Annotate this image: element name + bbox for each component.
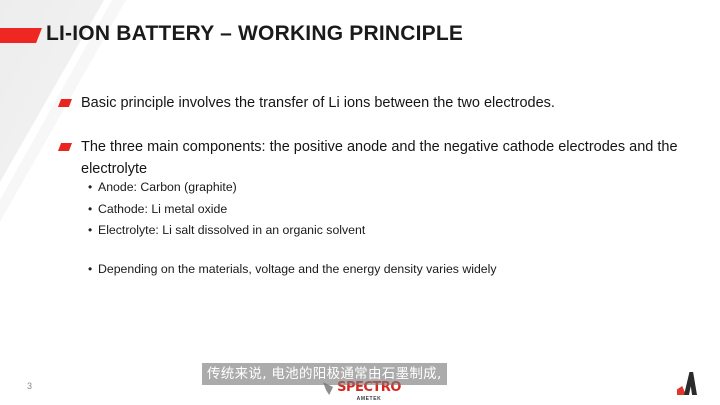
subtitle-caption: 传统来说, 电池的阳极通常由石墨制成, [202, 363, 447, 385]
page-number: 3 [27, 381, 32, 391]
bullet-text: The three main components: the positive … [81, 136, 678, 181]
list-item: • Anode: Carbon (graphite) [88, 178, 497, 197]
title-accent-marker-icon [0, 28, 42, 43]
list-item-label: Depending on the materials, voltage and … [98, 260, 497, 279]
list-item: • Depending on the materials, voltage an… [88, 260, 497, 279]
red-parallelogram-bullet-icon [58, 143, 72, 151]
dot-bullet-icon: • [88, 181, 98, 193]
page-title: LI-ION BATTERY – WORKING PRINCIPLE [46, 22, 463, 46]
bullet-item: Basic principle involves the transfer of… [58, 92, 555, 114]
list-item: • Cathode: Li metal oxide [88, 200, 497, 219]
red-parallelogram-bullet-icon [58, 99, 72, 107]
spectro-sub-wordmark: AMETEK [337, 397, 401, 402]
dot-bullet-icon: • [88, 224, 98, 236]
list-spacer [88, 243, 497, 260]
slide-canvas: LI-ION BATTERY – WORKING PRINCIPLE Basic… [0, 0, 720, 405]
sub-bullet-list: • Anode: Carbon (graphite) • Cathode: Li… [88, 178, 497, 282]
dot-bullet-icon: • [88, 203, 98, 215]
list-item: • Electrolyte: Li salt dissolved in an o… [88, 221, 497, 240]
list-item-label: Electrolyte: Li salt dissolved in an org… [98, 221, 365, 240]
bullet-text: Basic principle involves the transfer of… [81, 92, 555, 114]
list-item-label: Anode: Carbon (graphite) [98, 178, 237, 197]
bullet-item: The three main components: the positive … [58, 136, 678, 181]
list-item-label: Cathode: Li metal oxide [98, 200, 227, 219]
ametek-a-logo-icon [677, 372, 703, 396]
ametek-logo-letter-a [684, 372, 697, 395]
dot-bullet-icon: • [88, 263, 98, 275]
